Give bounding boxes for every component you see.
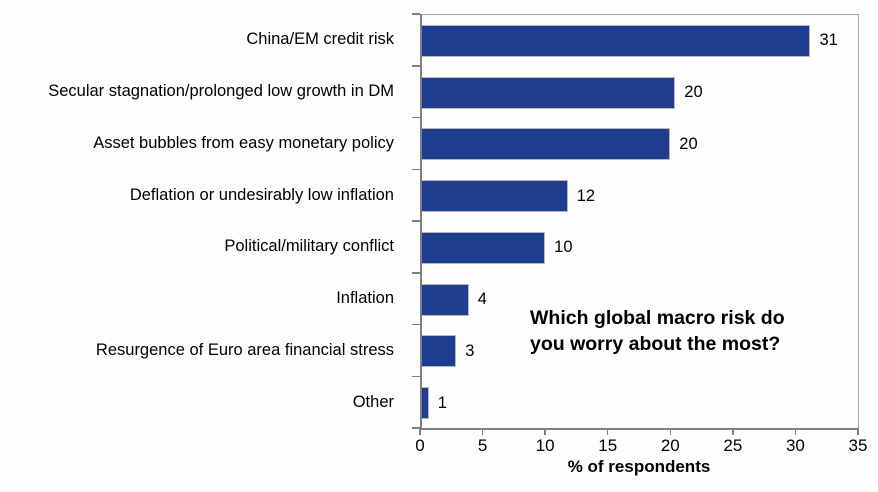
bar-value-label: 3 [465, 342, 474, 361]
bar[interactable] [420, 128, 670, 160]
x-axis-tick [419, 428, 421, 435]
bar[interactable] [420, 77, 675, 109]
y-axis-tick [412, 169, 420, 171]
x-axis-tick [544, 428, 546, 435]
bar-value-label: 12 [577, 187, 595, 206]
y-axis-tick [412, 376, 420, 378]
bar-series: 3120201210431 [420, 15, 858, 429]
y-axis-tick [412, 272, 420, 274]
bar[interactable] [420, 335, 456, 367]
category-label: Political/military conflict [0, 221, 404, 273]
x-axis-tick [795, 428, 797, 435]
x-axis-tick-label: 10 [536, 436, 555, 456]
category-axis-ticks [412, 14, 420, 428]
x-axis-tick-label: 5 [478, 436, 487, 456]
x-axis-tick-label: 20 [661, 436, 680, 456]
category-label: Inflation [0, 273, 404, 325]
category-label: China/EM credit risk [0, 14, 404, 66]
annotation-line-1: Which global macro risk do [530, 306, 850, 332]
bar-value-label: 1 [438, 394, 447, 413]
y-axis-tick [412, 324, 420, 326]
y-axis-tick [412, 13, 420, 15]
bar-value-label: 4 [478, 290, 487, 309]
bar[interactable] [420, 25, 810, 57]
bar-row: 31 [420, 15, 858, 67]
value-axis-ticks [420, 428, 858, 436]
bar-row: 12 [420, 170, 858, 222]
chart-annotation: Which global macro risk do you worry abo… [530, 306, 850, 357]
x-axis-tick-label: 25 [723, 436, 742, 456]
category-label: Asset bubbles from easy monetary policy [0, 118, 404, 170]
bar-value-label: 20 [684, 83, 702, 102]
x-axis-title: % of respondents [420, 457, 858, 477]
bar[interactable] [420, 284, 469, 316]
y-axis-tick [412, 117, 420, 119]
bar-value-label: 31 [819, 31, 837, 50]
x-axis-tick [732, 428, 734, 435]
x-axis-tick-label: 35 [849, 436, 868, 456]
annotation-line-2: you worry about the most? [530, 332, 850, 358]
bar-row: 20 [420, 119, 858, 171]
y-axis-tick [412, 220, 420, 222]
bar-chart: China/EM credit risk Secular stagnation/… [0, 0, 878, 492]
bar-row: 20 [420, 67, 858, 119]
category-label: Deflation or undesirably low inflation [0, 169, 404, 221]
category-axis-labels: China/EM credit risk Secular stagnation/… [0, 14, 404, 428]
bar-row: 1 [420, 377, 858, 429]
x-axis-tick-label: 15 [598, 436, 617, 456]
category-axis-line [420, 14, 422, 428]
x-axis-tick [482, 428, 484, 435]
bar-value-label: 10 [554, 238, 572, 257]
x-axis-tick [857, 428, 859, 435]
plot-area: 3120201210431 [420, 14, 859, 429]
x-axis-tick-label: 30 [786, 436, 805, 456]
bar[interactable] [420, 232, 545, 264]
bar-value-label: 20 [679, 135, 697, 154]
bar[interactable] [420, 180, 568, 212]
bar-row: 10 [420, 222, 858, 274]
y-axis-tick [412, 65, 420, 67]
x-axis-tick [607, 428, 609, 435]
category-label: Resurgence of Euro area financial stress [0, 325, 404, 377]
category-label: Other [0, 376, 404, 428]
x-axis-tick-label: 0 [415, 436, 424, 456]
category-label: Secular stagnation/prolonged low growth … [0, 66, 404, 118]
x-axis-tick [670, 428, 672, 435]
